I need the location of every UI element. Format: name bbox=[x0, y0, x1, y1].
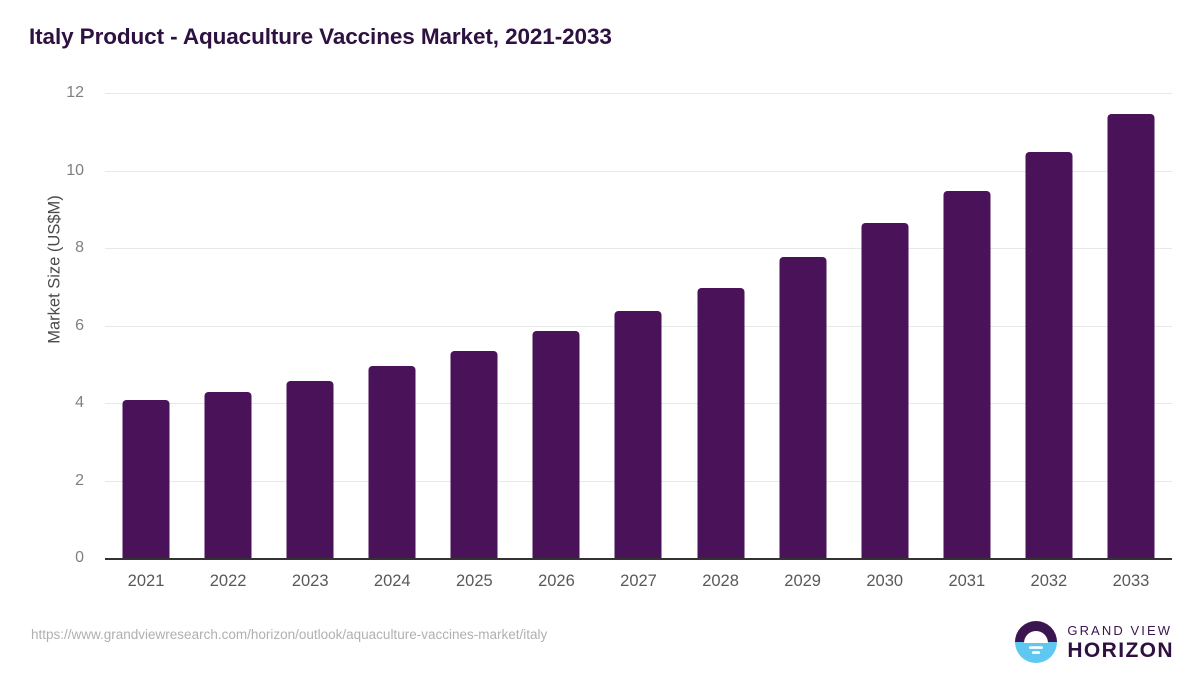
source-url[interactable]: https://www.grandviewresearch.com/horizo… bbox=[31, 627, 547, 642]
logo-wordmark: GRAND VIEW HORIZON bbox=[1067, 624, 1174, 661]
y-axis-tick-label: 2 bbox=[32, 472, 84, 490]
y-axis-tick-label: 0 bbox=[32, 549, 84, 567]
bar[interactable] bbox=[615, 311, 662, 558]
bar-group bbox=[187, 93, 269, 558]
y-axis-tick-label: 4 bbox=[32, 394, 84, 412]
bar[interactable] bbox=[1107, 114, 1154, 558]
bar-group bbox=[762, 93, 844, 558]
y-axis-title: Market Size (US$M) bbox=[46, 160, 65, 380]
y-axis-tick-label: 10 bbox=[32, 162, 84, 180]
bar-group bbox=[433, 93, 515, 558]
bar[interactable] bbox=[943, 191, 990, 558]
bar-group bbox=[1090, 93, 1172, 558]
bar[interactable] bbox=[123, 400, 170, 558]
bar-group bbox=[351, 93, 433, 558]
chart-plot-area: Market Size (US$M) 024681012 20212022202… bbox=[0, 0, 1200, 675]
bar-group bbox=[926, 93, 1008, 558]
horizon-logo-icon bbox=[1014, 620, 1058, 664]
brand-logo: GRAND VIEW HORIZON bbox=[1014, 620, 1174, 664]
x-axis-tick-label: 2033 bbox=[1071, 572, 1191, 591]
bar[interactable] bbox=[287, 381, 334, 558]
bar[interactable] bbox=[861, 223, 908, 558]
logo-line-2: HORIZON bbox=[1067, 640, 1174, 661]
y-axis-tick-label: 8 bbox=[32, 239, 84, 257]
y-axis-tick-label: 12 bbox=[32, 84, 84, 102]
bar[interactable] bbox=[697, 288, 744, 558]
y-axis-tick-label: 6 bbox=[32, 317, 84, 335]
bar-group bbox=[515, 93, 597, 558]
bar-group bbox=[680, 93, 762, 558]
bar[interactable] bbox=[369, 366, 416, 558]
bar[interactable] bbox=[205, 392, 252, 558]
chart-screenshot: Italy Product - Aquaculture Vaccines Mar… bbox=[0, 0, 1200, 675]
bar[interactable] bbox=[779, 257, 826, 558]
x-axis-line bbox=[105, 558, 1172, 560]
bar-group bbox=[269, 93, 351, 558]
logo-line-1: GRAND VIEW bbox=[1067, 624, 1174, 637]
bar-group bbox=[1008, 93, 1090, 558]
bar[interactable] bbox=[1025, 152, 1072, 558]
bar-series bbox=[105, 93, 1172, 558]
bar-group bbox=[105, 93, 187, 558]
bar[interactable] bbox=[533, 331, 580, 558]
bar[interactable] bbox=[451, 351, 498, 558]
bar-group bbox=[597, 93, 679, 558]
bar-group bbox=[844, 93, 926, 558]
